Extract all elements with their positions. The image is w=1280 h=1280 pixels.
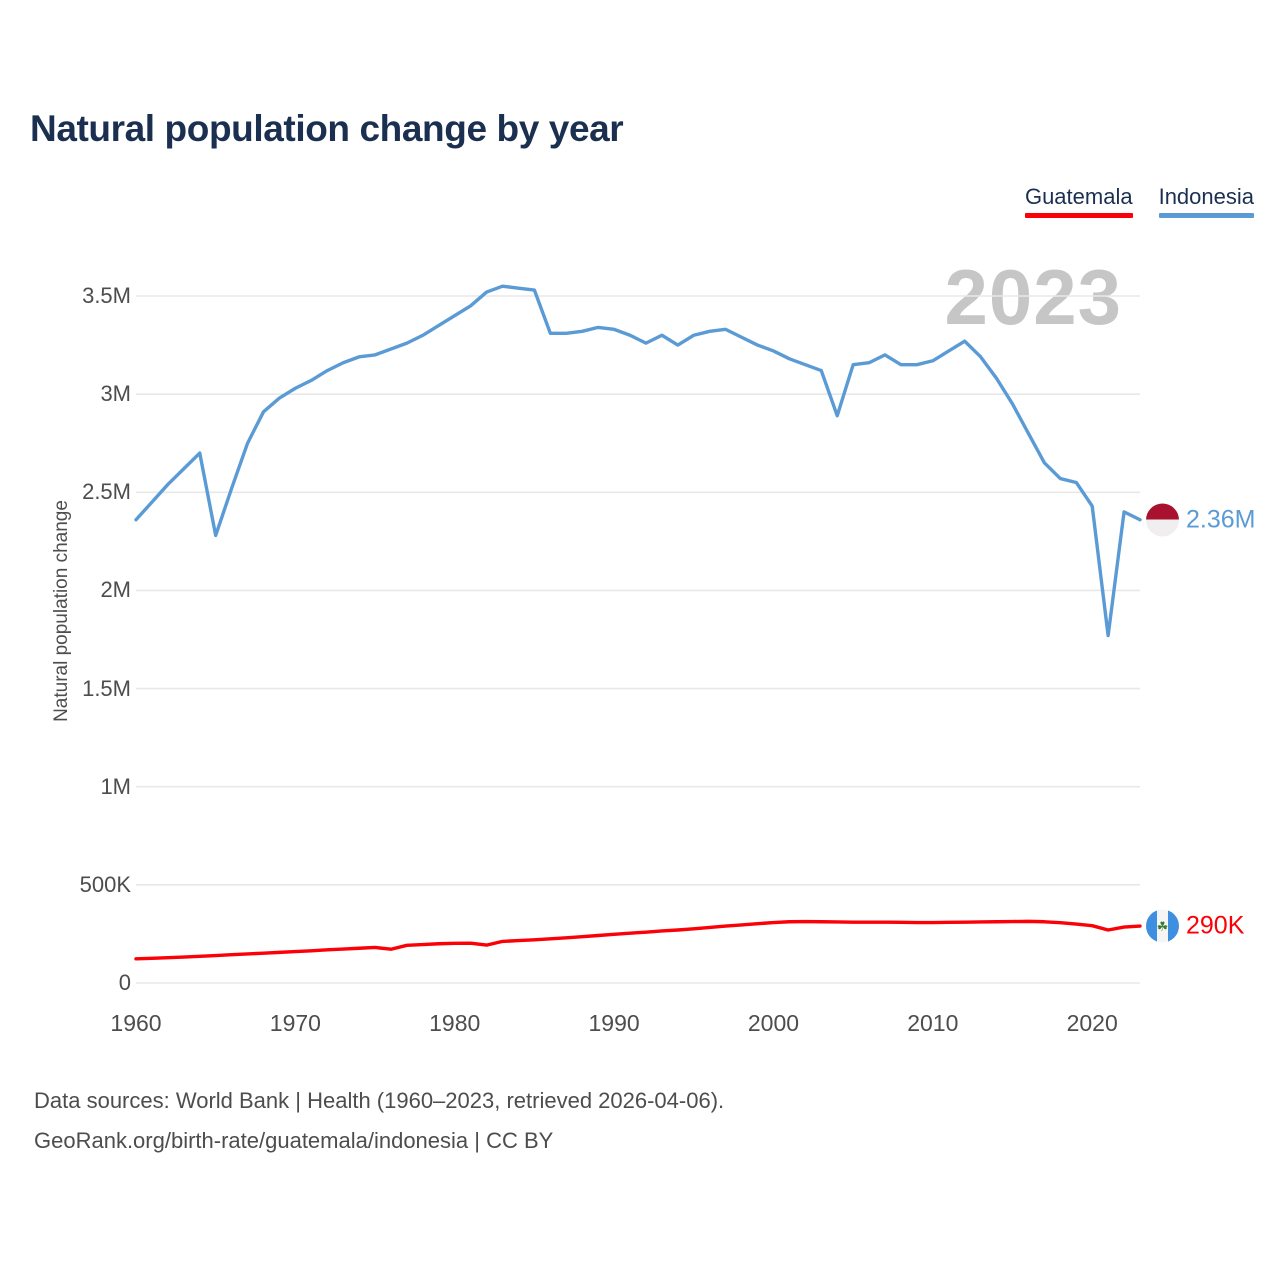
flag-band-red — [1146, 503, 1179, 520]
x-tick-label: 2000 — [748, 1010, 799, 1037]
end-label-guatemala: ☘ 290K — [1146, 910, 1244, 943]
footer-data-sources: Data sources: World Bank | Health (1960–… — [34, 1088, 724, 1114]
x-tick-label: 1970 — [270, 1010, 321, 1037]
indonesia-flag-icon — [1146, 503, 1179, 536]
flag-emblem: ☘ — [1157, 920, 1169, 933]
gridlines — [136, 296, 1140, 983]
end-value-guatemala: 290K — [1186, 912, 1244, 941]
x-tick-label: 1980 — [429, 1010, 480, 1037]
y-tick-label: 1.5M — [82, 676, 131, 702]
y-tick-label: 3M — [100, 381, 131, 407]
end-value-indonesia: 2.36M — [1186, 505, 1255, 534]
guatemala-flag-icon: ☘ — [1146, 910, 1179, 943]
series-lines — [136, 286, 1140, 959]
chart-root: Natural population change by year Guatem… — [0, 0, 1280, 1280]
y-tick-label: 500K — [80, 872, 131, 898]
y-tick-label: 2.5M — [82, 479, 131, 505]
series-line-indonesia — [136, 286, 1140, 635]
y-tick-label: 2M — [100, 577, 131, 603]
y-tick-label: 3.5M — [82, 283, 131, 309]
x-tick-label: 2020 — [1067, 1010, 1118, 1037]
x-tick-label: 1960 — [110, 1010, 161, 1037]
flag-band-white — [1146, 520, 1179, 537]
x-tick-label: 1990 — [589, 1010, 640, 1037]
end-label-indonesia: 2.36M — [1146, 503, 1255, 536]
x-tick-label: 2010 — [907, 1010, 958, 1037]
flag-band-blue-left — [1146, 910, 1157, 943]
y-tick-label: 1M — [100, 774, 131, 800]
series-line-guatemala — [136, 921, 1140, 958]
flag-band-blue-right — [1168, 910, 1179, 943]
y-tick-label: 0 — [119, 970, 131, 996]
footer-attribution: GeoRank.org/birth-rate/guatemala/indones… — [34, 1128, 553, 1154]
